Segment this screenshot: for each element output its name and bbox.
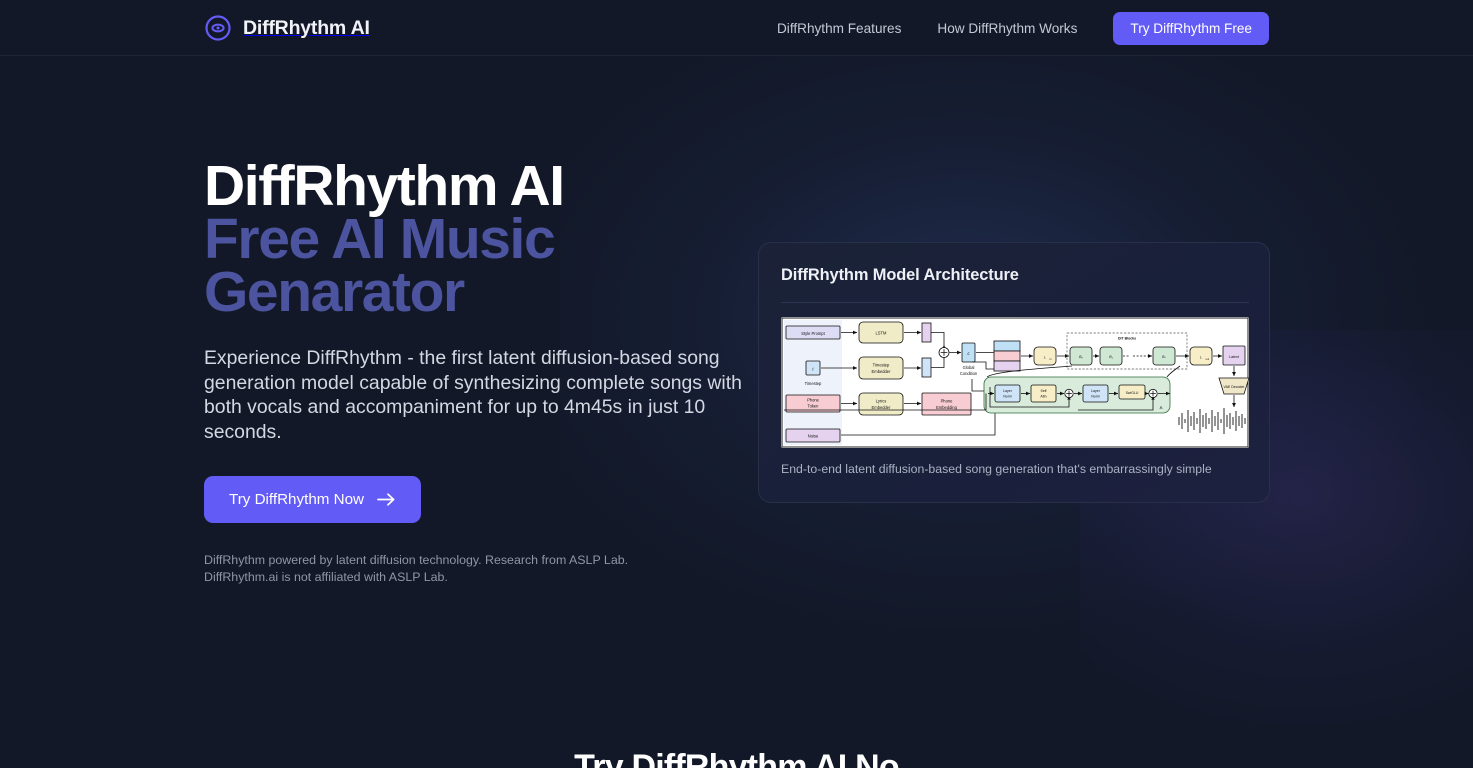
hero-disclaimer: DiffRhythm powered by latent diffusion t…: [204, 552, 674, 586]
svg-text:L: L: [1044, 356, 1046, 360]
svg-text:c: c: [967, 351, 969, 356]
svg-text:Phone: Phone: [807, 398, 820, 403]
svg-text:Phone: Phone: [941, 399, 954, 404]
architecture-diagram-image: .bx { stroke:#111; stroke-width:.8; } .l…: [781, 317, 1249, 448]
svg-text:Norm: Norm: [1003, 395, 1012, 399]
hero-title-line-3: Genarator: [204, 266, 744, 319]
svg-text:L: L: [1200, 356, 1202, 360]
page-title: DiffRhythm AI Free AI Music Genarator: [204, 160, 744, 319]
svg-text:Norm: Norm: [1091, 395, 1100, 399]
brand-logo-link[interactable]: DiffRhythm AI: [204, 14, 370, 42]
svg-text:Timestep: Timestep: [873, 363, 890, 368]
svg-text:Layer: Layer: [1091, 389, 1101, 393]
svg-text:B₀: B₀: [1079, 355, 1083, 359]
svg-text:Embedder: Embedder: [872, 369, 892, 374]
svg-text:Self: Self: [1040, 389, 1046, 393]
svg-text:Condition: Condition: [960, 371, 978, 376]
svg-text:Lyrics: Lyrics: [876, 399, 887, 404]
architecture-card-caption: End-to-end latent diffusion-based song g…: [781, 462, 1251, 476]
architecture-card-title: DiffRhythm Model Architecture: [781, 266, 1019, 285]
hero-disclaimer-line-2: DiffRhythm.ai is not affiliated with ASL…: [204, 570, 448, 584]
arrow-right-icon: [377, 492, 396, 507]
svg-text:VAE Decoder: VAE Decoder: [1224, 385, 1246, 389]
landing-page: DiffRhythm AI DiffRhythm Features How Di…: [0, 0, 1473, 768]
hero-description: Experience DiffRhythm - the first latent…: [204, 346, 744, 444]
svg-text:Embedding: Embedding: [936, 405, 957, 410]
hero-title-line-1: DiffRhythm AI: [204, 160, 744, 213]
svg-text:out: out: [1206, 357, 1210, 361]
divider: [781, 302, 1249, 303]
hero-cta-label: Try DiffRhythm Now: [229, 491, 364, 508]
svg-text:DiT Blocks: DiT Blocks: [1118, 337, 1136, 341]
primary-nav: DiffRhythm Features How DiffRhythm Works…: [777, 0, 1269, 56]
hero-title-line-2: Free AI Music: [204, 213, 744, 266]
svg-text:Latent: Latent: [1229, 355, 1239, 359]
svg-text:Layer: Layer: [1003, 389, 1013, 393]
svg-text:Noise: Noise: [808, 434, 819, 439]
header-try-free-button[interactable]: Try DiffRhythm Free: [1113, 12, 1269, 45]
svg-text:Timestep: Timestep: [805, 381, 822, 386]
architecture-card: DiffRhythm Model Architecture .bx { stro…: [758, 242, 1270, 503]
brand-name: DiffRhythm AI: [243, 17, 370, 40]
hero-disclaimer-line-1: DiffRhythm powered by latent diffusion t…: [204, 553, 628, 567]
svg-text:Attn: Attn: [1040, 395, 1046, 399]
hero-content: DiffRhythm AI Free AI Music Genarator Ex…: [204, 160, 744, 586]
next-section-heading: Try DiffRhythm AI No: [0, 748, 1473, 768]
svg-text:Bₙ: Bₙ: [1162, 355, 1166, 359]
svg-text:Embedder: Embedder: [872, 405, 892, 410]
eye-circle-icon: [204, 14, 232, 42]
svg-text:Token: Token: [808, 404, 820, 409]
svg-text:SwiGLU: SwiGLU: [1126, 391, 1139, 395]
svg-text:Style Prompt: Style Prompt: [801, 331, 825, 336]
svg-text:LSTM: LSTM: [876, 331, 888, 336]
hero-try-now-button[interactable]: Try DiffRhythm Now: [204, 476, 421, 523]
nav-link-how-it-works[interactable]: How DiffRhythm Works: [937, 21, 1077, 36]
svg-text:Global: Global: [963, 365, 975, 370]
site-header: DiffRhythm AI DiffRhythm Features How Di…: [0, 0, 1473, 56]
nav-link-features[interactable]: DiffRhythm Features: [777, 21, 901, 36]
